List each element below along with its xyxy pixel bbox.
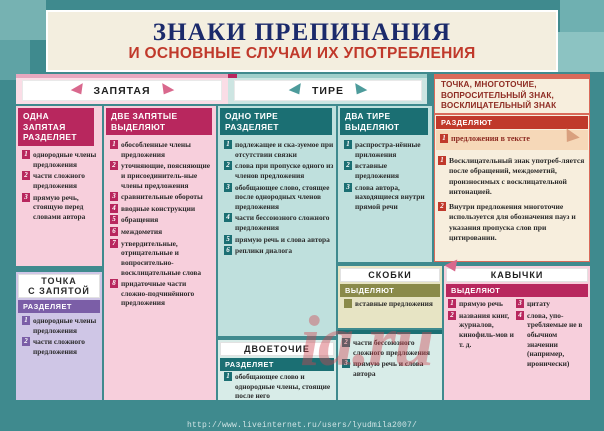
item-number: 1: [344, 140, 352, 149]
item-text: распростра-нённые приложения: [355, 140, 430, 159]
list-item: 3 обобщающее слово, стоящее после одноро…: [224, 183, 334, 212]
list-item: 2 уточняющие, поясняющие и присоединител…: [110, 161, 214, 190]
brackets-items: вставные предложения: [344, 299, 440, 311]
list-item: 1 обобщающее слово и однородные члены, с…: [224, 372, 334, 401]
poster-title: ЗНАКИ ПРЕПИНАНИЯ И ОСНОВНЫЕ СЛУЧАИ ИХ УП…: [46, 10, 558, 72]
list-item: 7 утвердительные, отрицательные и вопрос…: [110, 239, 214, 278]
list-item: 1 предложения в тексте: [440, 134, 560, 144]
list-item: 3 цитату: [516, 299, 588, 309]
item-text: обобщающее слово и однородные члены, сто…: [235, 372, 334, 401]
brackets-title-label: СКОБКИ: [368, 270, 411, 280]
poster-root: ЗНАКИ ПРЕПИНАНИЯ И ОСНОВНЫЕ СЛУЧАИ ИХ УП…: [0, 0, 604, 431]
list-item: 2 части сложного предложения: [22, 337, 100, 356]
list-item: 1 подлежащее и ска-зуемое при отсутствии…: [224, 140, 334, 159]
item-number: 1: [110, 140, 118, 149]
group-header-comma-label: ЗАПЯТАЯ: [94, 85, 151, 97]
list-item: 4 вводные конструкции: [110, 204, 214, 214]
list-item: 3 сравнительные обороты: [110, 192, 214, 202]
list-item: 1 Восклицательный знак употреб-ляется по…: [438, 156, 588, 198]
item-number: 4: [224, 213, 232, 222]
item-text: слова при пропуске одного из членов пред…: [235, 161, 334, 180]
item-number: 2: [110, 161, 118, 170]
item-number: 5: [224, 235, 232, 244]
item-number: 2: [342, 338, 350, 347]
group-header-comma: ЗАПЯТАЯ: [22, 80, 222, 101]
period-group-subtitle: РАЗДЕЛЯЮТ: [436, 116, 588, 129]
item-number: 2: [438, 202, 446, 211]
list-item: 3 слова автора, находящиеся внутри прямо…: [344, 183, 430, 212]
group-header-dash: ТИРЕ: [234, 80, 422, 101]
quotes-items-left: 1 прямую речь 2 названия книг, журналов,…: [448, 299, 514, 351]
list-item: 1 однородные члены предложения: [22, 150, 100, 169]
item-text: утвердительные, отрицательные и вопросит…: [121, 239, 214, 278]
period-group-header: ТОЧКА, МНОГОТОЧИЕ, ВОПРОСИТЕЛЬНЫЙ ЗНАК, …: [434, 78, 590, 114]
item-text: прямую речь и слова автора: [235, 235, 330, 245]
item-number: 3: [110, 192, 118, 201]
item-number: 2: [448, 311, 456, 320]
item-text: междометия: [121, 227, 162, 237]
list-item: 2 вставные предложения: [344, 161, 430, 180]
item-number: 3: [224, 183, 232, 192]
list-item: 1 обособленные члены предложения: [110, 140, 214, 159]
item-number: 1: [224, 372, 232, 381]
item-text: слова, упо-требляемые не в обычном значе…: [527, 311, 588, 369]
item-text: прямую речь: [459, 299, 503, 309]
item-number: 2: [22, 337, 30, 346]
list-item: 1 однородные члены предложения: [22, 316, 100, 335]
column-one-comma-title: ОДНА ЗАПЯТАЯ РАЗДЕЛЯЕТ: [18, 108, 94, 146]
title-line-1: ЗНАКИ ПРЕПИНАНИЯ: [153, 20, 451, 46]
item-text: обращения: [121, 215, 158, 225]
list-item: 3 прямую речь и слова автора: [342, 359, 442, 378]
quotes-title: КАВЫЧКИ: [446, 268, 588, 282]
item-text: части бессоюзного сложного предложения: [235, 213, 334, 232]
period-group-items: 1 предложения в тексте: [440, 134, 560, 146]
column-two-dashes-title: ДВА ТИРЕ ВЫДЕЛЯЮТ: [340, 108, 428, 135]
brackets-title: СКОБКИ: [340, 268, 440, 282]
semicolon-title-label: ТОЧКА С ЗАПЯТОЙ: [28, 276, 90, 297]
semicolon-items: 1 однородные члены предложения 2 части с…: [22, 316, 100, 359]
item-number: 1: [440, 134, 448, 143]
item-text: названия книг, журналов, кинофиль-мов и …: [459, 311, 514, 350]
colon-items: 1 обобщающее слово и однородные члены, с…: [224, 372, 334, 403]
arrow-down-right-icon: [289, 83, 306, 98]
item-number: 3: [344, 183, 352, 192]
column-one-dash-title: ОДНО ТИРЕ РАЗДЕЛЯЕТ: [220, 108, 332, 135]
item-number: 4: [110, 204, 118, 213]
list-item: 4 части бессоюзного сложного предложения: [224, 213, 334, 232]
item-number: 1: [438, 156, 446, 165]
list-item: 2 слова при пропуске одного из членов пр…: [224, 161, 334, 180]
bg-block: [0, 0, 46, 40]
item-text: слова автора, находящиеся внутри прямой …: [355, 183, 430, 212]
list-item: 6 междометия: [110, 227, 214, 237]
item-text: части бессоюзного сложного предложения: [353, 338, 442, 357]
bg-block: [560, 0, 604, 32]
list-item: 1 распростра-нённые приложения: [344, 140, 430, 159]
list-item: 3 прямую речь, стоящую перед словами авт…: [22, 193, 100, 222]
group-header-dash-label: ТИРЕ: [312, 85, 344, 97]
item-text: придаточные части сложно-подчинённого пр…: [121, 279, 214, 308]
list-item: вставные предложения: [344, 299, 440, 309]
column-two-dashes-items: 1 распростра-нённые приложения 2 вставны…: [344, 140, 430, 213]
item-text: части сложного предложения: [33, 337, 100, 356]
list-item: 1 прямую речь: [448, 299, 514, 309]
colon-title: ДВОЕТОЧИЕ: [220, 342, 334, 356]
item-text: прямую речь и слова автора: [353, 359, 442, 378]
item-text: однородные члены предложения: [33, 150, 100, 169]
quotes-items-right: 3 цитату 4 слова, упо-требляемые не в об…: [516, 299, 588, 370]
list-item: 6 реплики диалога: [224, 246, 334, 256]
colon-title-label: ДВОЕТОЧИЕ: [244, 344, 310, 354]
item-number: 6: [224, 246, 232, 255]
column-two-commas-title: ДВЕ ЗАПЯТЫЕ ВЫДЕЛЯЮТ: [106, 108, 212, 135]
item-text: обособленные члены предложения: [121, 140, 214, 159]
title-line-2: И ОСНОВНЫЕ СЛУЧАИ ИХ УПОТРЕБЛЕНИЯ: [128, 46, 475, 62]
item-number: 2: [224, 161, 232, 170]
item-number: 3: [22, 193, 30, 202]
item-text: обобщающее слово, стоящее после однородн…: [235, 183, 334, 212]
quotes-subtitle: ВЫДЕЛЯЮТ: [446, 284, 588, 297]
list-item: 5 прямую речь и слова автора: [224, 235, 334, 245]
semicolon-subtitle: РАЗДЕЛЯЕТ: [18, 300, 100, 313]
list-item: 5 обращения: [110, 215, 214, 225]
item-number: 2: [22, 171, 30, 180]
item-text: цитату: [527, 299, 550, 309]
column-one-comma-items: 1 однородные члены предложения 2 части с…: [22, 150, 100, 223]
item-text: вставные предложения: [355, 161, 430, 180]
item-number: [344, 299, 352, 308]
item-number: 1: [224, 140, 232, 149]
column-one-dash-items: 1 подлежащее и ска-зуемое при отсутствии…: [224, 140, 334, 258]
item-text: подлежащее и ска-зуемое при отсутствии с…: [235, 140, 334, 159]
list-item: 2 части бессоюзного сложного предложения: [342, 338, 442, 357]
item-number: 4: [516, 311, 524, 320]
list-item: 4 слова, упо-требляемые не в обычном зна…: [516, 311, 588, 369]
footer-url: http://www.liveinternet.ru/users/lyudmil…: [0, 421, 604, 430]
list-item: 2 Внутри предложения многоточие использу…: [438, 202, 588, 244]
arrow-down-left-icon: [157, 83, 174, 98]
list-item: 2 названия книг, журналов, кинофиль-мов …: [448, 311, 514, 350]
column-two-commas-items: 1 обособленные члены предложения 2 уточн…: [110, 140, 214, 310]
brackets-subtitle: ВЫДЕЛЯЮТ: [340, 284, 440, 297]
item-text: вводные конструкции: [121, 204, 195, 214]
item-number: 3: [342, 359, 350, 368]
item-text: вставные предложения: [355, 299, 433, 309]
item-number: 1: [22, 316, 30, 325]
list-item: 8 придаточные части сложно-подчинённого …: [110, 279, 214, 308]
semicolon-title: ТОЧКА С ЗАПЯТОЙ: [18, 274, 100, 298]
item-text: однородные члены предложения: [33, 316, 100, 335]
item-number: 2: [344, 161, 352, 170]
item-text: предложения в тексте: [451, 134, 530, 144]
item-number: 8: [110, 279, 118, 288]
period-group-header-label: ТОЧКА, МНОГОТОЧИЕ, ВОПРОСИТЕЛЬНЫЙ ЗНАК, …: [441, 80, 556, 112]
item-text: уточняющие, поясняющие и присоединитель-…: [121, 161, 214, 190]
item-number: 1: [22, 150, 30, 159]
colon-extra-items: 2 части бессоюзного сложного предложения…: [342, 338, 442, 381]
arrow-down-right-icon: [70, 83, 87, 98]
item-text: части сложного предложения: [33, 171, 100, 190]
quotes-title-label: КАВЫЧКИ: [491, 270, 544, 280]
colon-subtitle: РАЗДЕЛЯЕТ: [220, 358, 334, 371]
arrow-down-left-icon: [351, 83, 368, 98]
item-number: 5: [110, 215, 118, 224]
item-text: прямую речь, стоящую перед словами автор…: [33, 193, 100, 222]
note-text: Восклицательный знак употреб-ляется посл…: [449, 156, 588, 198]
item-text: сравнительные обороты: [121, 192, 203, 202]
item-number: 7: [110, 239, 118, 248]
list-item: 2 части сложного предложения: [22, 171, 100, 190]
item-number: 6: [110, 227, 118, 236]
note-text: Внутри предложения многоточие использует…: [449, 202, 588, 244]
item-number: 1: [448, 299, 456, 308]
period-group-notes: 1 Восклицательный знак употреб-ляется по…: [438, 156, 588, 246]
item-number: 3: [516, 299, 524, 308]
item-text: реплики диалога: [235, 246, 292, 256]
